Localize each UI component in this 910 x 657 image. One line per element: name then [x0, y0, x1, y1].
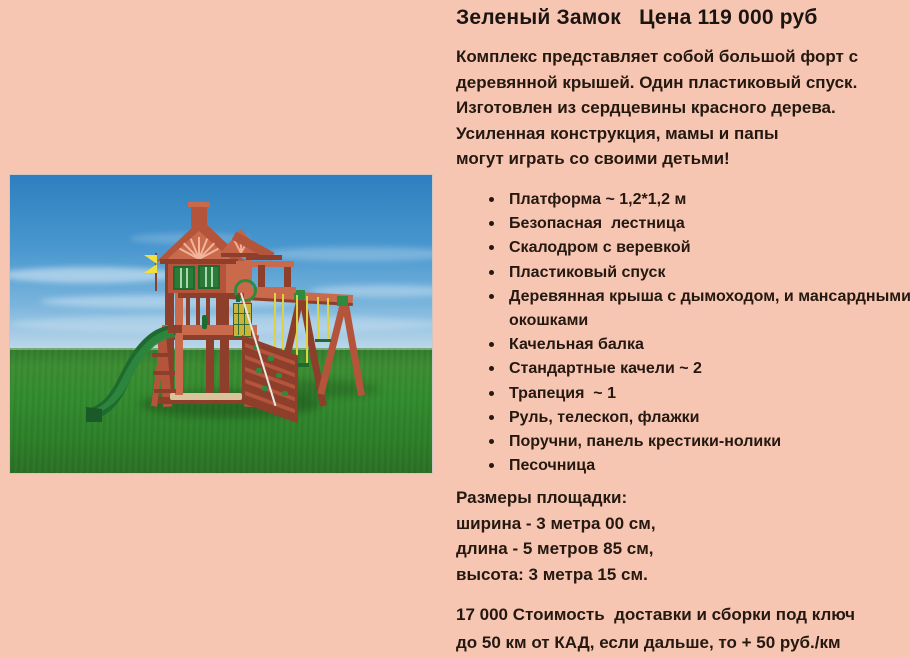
beam-bracket [337, 296, 348, 306]
list-item-label: Безопасная лестница [509, 215, 685, 232]
product-photo [9, 174, 433, 474]
railing-slat [216, 297, 220, 325]
intro-line: Комплекс представляет собой большой форт… [456, 44, 908, 70]
list-item: Руль, телескоп, флажки [509, 406, 910, 430]
bullet-icon [489, 439, 494, 444]
intro-line: могут играть со своими детьми! [456, 146, 908, 172]
tictactoe-grid-line [238, 303, 239, 335]
delivery-block: 17 000 Стоимость доставки и сборки под к… [456, 601, 855, 657]
bullet-icon [489, 415, 494, 420]
window-mullion [211, 267, 213, 287]
climb-rock-grip [268, 356, 274, 361]
bullet-icon [489, 270, 494, 275]
bullet-icon [489, 391, 494, 396]
delivery-line: 17 000 Стоимость доставки и сборки под к… [456, 601, 855, 629]
list-item-label: Платформа ~ 1,2*1,2 м [509, 191, 686, 208]
flag [144, 255, 157, 273]
dimensions-line: высота: 3 метра 15 см. [456, 562, 656, 588]
list-item-label: Песочница [509, 457, 595, 474]
text-column: Зеленый Замок Цена 119 000 руб Комплекс … [453, 0, 910, 655]
list-item-label: Стандартные качели ~ 2 [509, 360, 702, 377]
climb-rock-grip [282, 391, 288, 396]
intro-line: деревянной крышей. Один пластиковый спус… [456, 70, 908, 96]
roof-eave [160, 259, 238, 264]
intro-line: Изготовлен из сердцевины красного дерева… [456, 95, 908, 121]
delivery-line: до 50 км от КАД, если дальше, то + 50 ру… [456, 629, 855, 657]
window-mullion [186, 268, 188, 288]
railing-slat [196, 297, 200, 325]
railing-slat [186, 297, 190, 325]
dimensions-line: ширина - 3 метра 00 см, [456, 511, 656, 537]
list-item: Стандартные качели ~ 2 [509, 357, 910, 381]
dimensions-heading: Размеры площадки: [456, 485, 656, 511]
list-item-label: Пластиковый спуск [509, 264, 665, 281]
telescope-icon [202, 315, 207, 329]
steering-wheel-mount [236, 295, 240, 302]
list-item: Песочница [509, 454, 910, 478]
swing-chain [296, 295, 298, 363]
list-item-label: Скалодром с веревкой [509, 239, 691, 256]
dimensions-line: длина - 5 метров 85 см, [456, 536, 656, 562]
slide-mount [168, 325, 182, 333]
list-item-label: Руль, телескоп, флажки [509, 409, 700, 426]
swing-chain [306, 296, 308, 364]
window-mullion [180, 268, 182, 288]
bullet-icon [489, 221, 494, 226]
list-item: Качельная балка [509, 333, 910, 357]
list-item: Деревянная крыша с дымоходом, и мансардн… [509, 285, 910, 333]
slide-svg [80, 323, 176, 423]
playset-structure [10, 175, 432, 473]
intro-paragraph: Комплекс представляет собой большой форт… [456, 44, 908, 172]
intro-line: Усиленная конструкция, мамы и папы [456, 121, 908, 147]
chimney-cap [188, 202, 210, 207]
trapeze-rope [317, 297, 319, 339]
page-title: Зеленый Замок Цена 119 000 руб [456, 6, 818, 30]
bullet-icon [489, 366, 494, 371]
list-item: Трапеция ~ 1 [509, 382, 910, 406]
bullet-icon [489, 245, 494, 250]
window-pane [200, 267, 218, 287]
tictactoe-grid-line [233, 324, 250, 325]
list-item: Скалодром с веревкой [509, 236, 910, 260]
chimney [191, 205, 207, 227]
list-item: Пластиковый спуск [509, 261, 910, 285]
list-item: Безопасная лестница [509, 212, 910, 236]
bullet-icon [489, 463, 494, 468]
climb-rock-grip [262, 386, 268, 391]
roof-eave-right [246, 255, 282, 260]
slide-chute [80, 323, 176, 423]
dimensions-block: Размеры площадки: ширина - 3 метра 00 см… [456, 485, 656, 587]
bullet-icon [489, 342, 494, 347]
swing-chain [274, 293, 276, 351]
bullet-icon [489, 294, 494, 299]
product-sheet-page: Зеленый Замок Цена 119 000 руб Комплекс … [0, 0, 910, 655]
climb-rock-grip [256, 368, 262, 373]
list-item: Поручни, панель крестики-нолики [509, 430, 910, 454]
list-item: Платформа ~ 1,2*1,2 м [509, 188, 910, 212]
window-pane [175, 268, 193, 288]
list-item-label: Поручни, панель крестики-нолики [509, 433, 781, 450]
trapeze-rope [327, 298, 329, 340]
bullet-icon [489, 197, 494, 202]
swing-chain [282, 294, 284, 352]
list-item-label: Трапеция ~ 1 [509, 385, 616, 402]
climb-rock-grip [276, 373, 282, 378]
trapeze-bar [315, 339, 331, 342]
window-mullion [205, 267, 207, 287]
list-item-label: Деревянная крыша с дымоходом, и мансардн… [509, 288, 910, 329]
list-item-label: Качельная балка [509, 336, 644, 353]
features-list: Платформа ~ 1,2*1,2 м Безопасная лестниц… [477, 188, 910, 478]
